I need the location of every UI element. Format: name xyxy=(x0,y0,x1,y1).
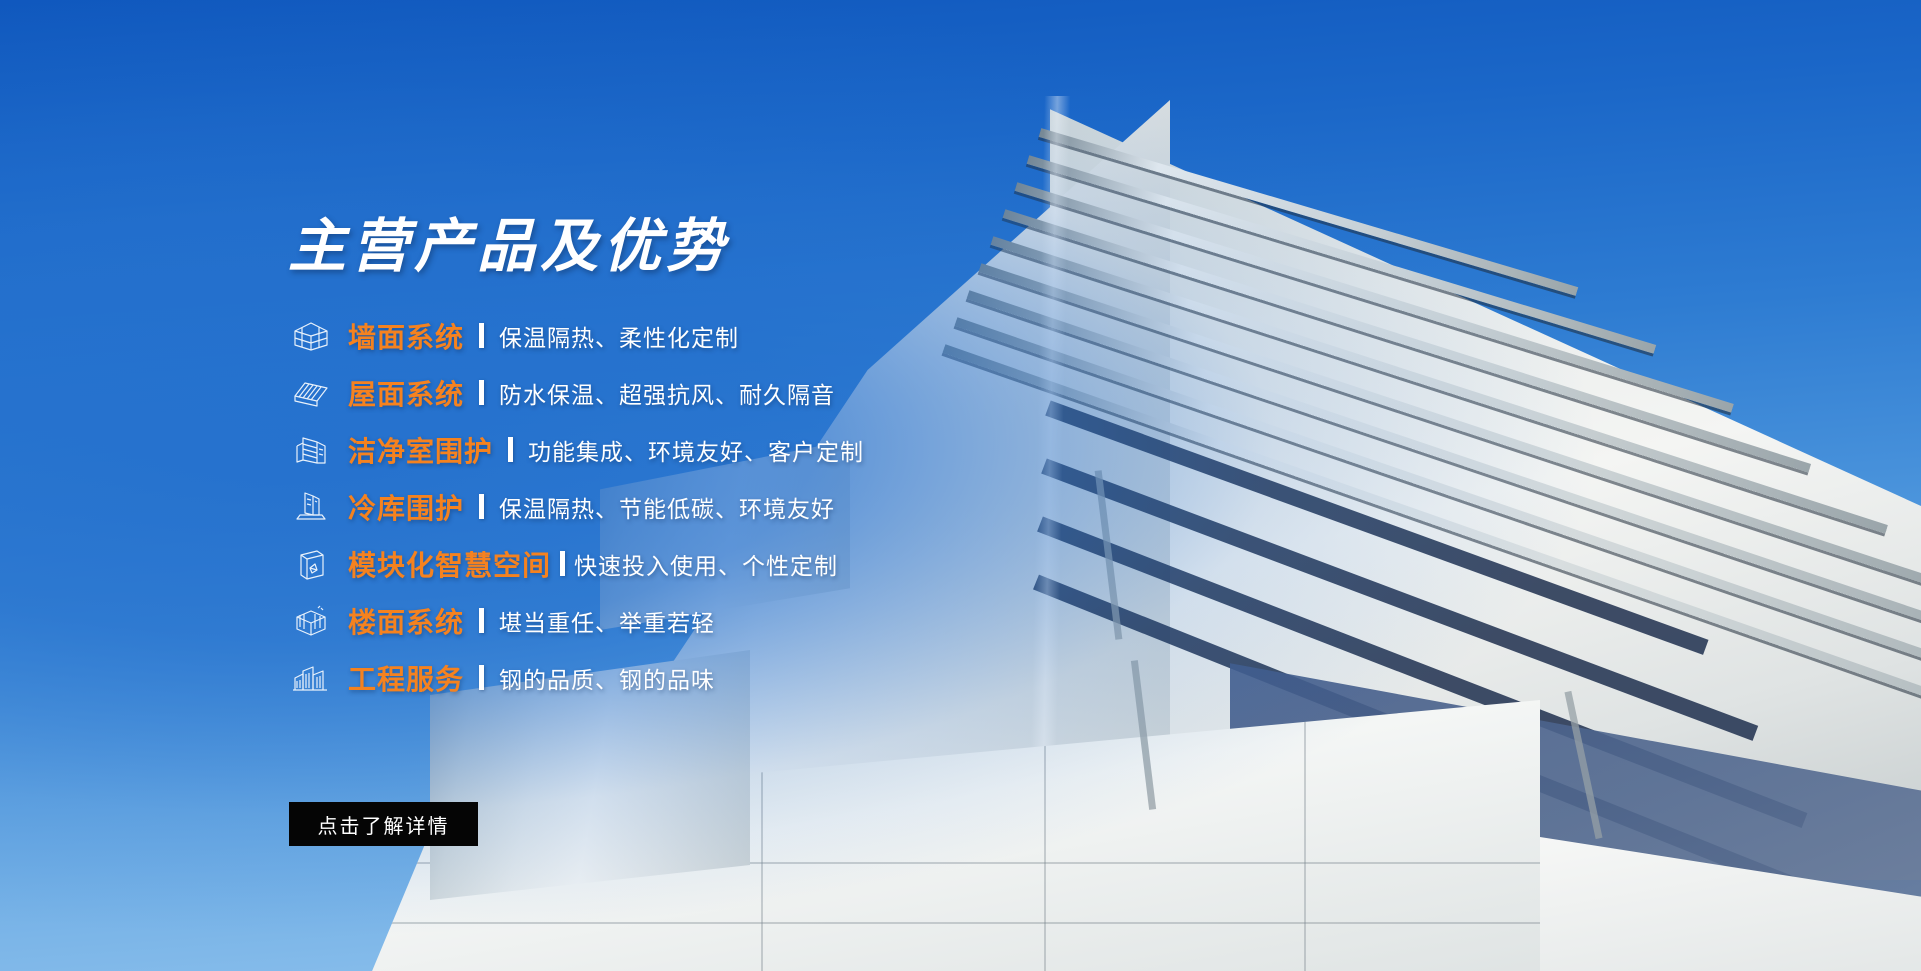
wall-panel-icon xyxy=(288,316,334,356)
engineering-service-icon xyxy=(288,658,334,698)
product-features: 功能集成、环境友好、客户定制 xyxy=(528,433,864,467)
product-row[interactable]: 墙面系统保温隔热、柔性化定制 xyxy=(288,307,1288,364)
product-name: 工程服务 xyxy=(348,658,464,698)
cleanroom-icon xyxy=(288,430,334,470)
product-row[interactable]: 工程服务钢的品质、钢的品味 xyxy=(288,649,1288,706)
separator-bar xyxy=(479,665,484,690)
cold-storage-icon xyxy=(288,487,334,527)
product-features: 保温隔热、节能低碳、环境友好 xyxy=(499,490,835,524)
separator-bar xyxy=(479,380,484,405)
separator-bar xyxy=(479,323,484,348)
separator-bar xyxy=(479,494,484,519)
product-features: 保温隔热、柔性化定制 xyxy=(499,319,739,353)
roof-panel-icon xyxy=(288,373,334,413)
separator-bar xyxy=(508,437,513,462)
learn-more-button[interactable]: 点击了解详情 xyxy=(289,802,478,846)
product-name: 洁净室围护 xyxy=(348,430,493,470)
product-features: 快速投入使用、个性定制 xyxy=(574,547,838,581)
product-name: 墙面系统 xyxy=(348,316,464,356)
product-row[interactable]: 屋面系统防水保温、超强抗风、耐久隔音 xyxy=(288,364,1288,421)
product-row[interactable]: 洁净室围护功能集成、环境友好、客户定制 xyxy=(288,421,1288,478)
page-title: 主营产品及优势 xyxy=(288,218,729,276)
product-row[interactable]: 楼面系统堪当重任、举重若轻 xyxy=(288,592,1288,649)
modular-space-icon xyxy=(288,544,334,584)
product-list: 墙面系统保温隔热、柔性化定制屋面系统防水保温、超强抗风、耐久隔音洁净室围护功能集… xyxy=(288,307,1288,706)
separator-bar xyxy=(479,608,484,633)
product-features: 钢的品质、钢的品味 xyxy=(499,661,715,695)
product-features: 堪当重任、举重若轻 xyxy=(499,604,715,638)
product-row[interactable]: 冷库围护保温隔热、节能低碳、环境友好 xyxy=(288,478,1288,535)
banner-stage: 主营产品及优势 墙面系统保温隔热、柔性化定制屋面系统防水保温、超强抗风、耐久隔音… xyxy=(0,0,1921,971)
floor-deck-icon xyxy=(288,601,334,641)
product-name: 冷库围护 xyxy=(348,487,464,527)
product-name: 楼面系统 xyxy=(348,601,464,641)
product-name: 模块化智慧空间 xyxy=(348,544,551,584)
banner-content: 主营产品及优势 墙面系统保温隔热、柔性化定制屋面系统防水保温、超强抗风、耐久隔音… xyxy=(0,0,1921,971)
product-row[interactable]: 模块化智慧空间快速投入使用、个性定制 xyxy=(288,535,1288,592)
product-name: 屋面系统 xyxy=(348,373,464,413)
product-features: 防水保温、超强抗风、耐久隔音 xyxy=(499,376,835,410)
separator-bar xyxy=(560,551,565,576)
